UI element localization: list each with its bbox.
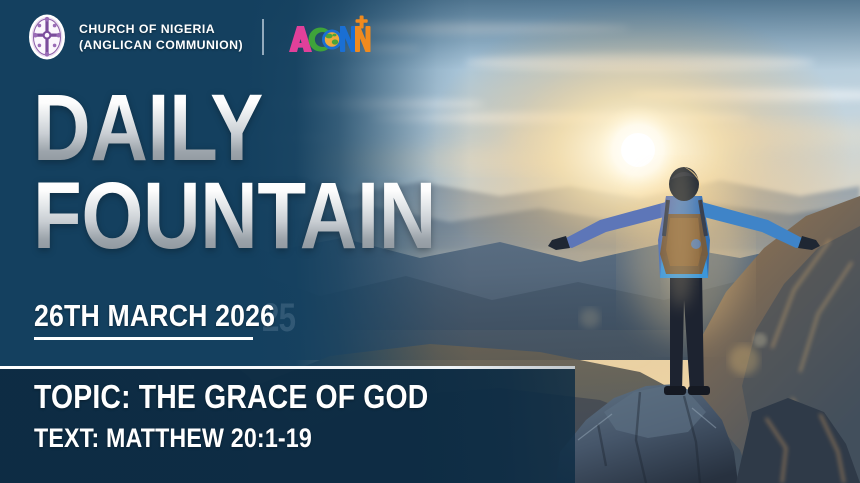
poster-title: DAILY FOUNTAIN [33, 88, 513, 257]
anglican-crest-icon [28, 14, 66, 60]
acnn-logo-icon [285, 14, 373, 60]
text-reference-line: TEXT: MATTHEW 20:1-19 [34, 425, 428, 452]
date-underline [34, 337, 253, 340]
date-block: 26TH MARCH 2026 [34, 300, 314, 340]
brand-header: CHURCH OF NIGERIA (ANGLICAN COMMUNION) [28, 14, 373, 60]
date-value: 26TH MARCH 2026 [34, 300, 275, 331]
title-line-daily: DAILY [33, 88, 436, 170]
title-line-fountain: FOUNTAIN [33, 176, 436, 258]
topic-line: TOPIC: THE GRACE OF GOD [34, 380, 428, 413]
topic-banner-text: TOPIC: THE GRACE OF GOD TEXT: MATTHEW 20… [34, 380, 493, 452]
vertical-divider-icon [262, 19, 264, 55]
org-line-1: CHURCH OF NIGERIA [79, 21, 243, 37]
org-line-2: (ANGLICAN COMMUNION) [79, 37, 243, 53]
banner-top-rule [0, 366, 575, 369]
daily-fountain-poster: 25 CHURCH OF NI [0, 0, 860, 483]
organisation-name: CHURCH OF NIGERIA (ANGLICAN COMMUNION) [79, 21, 243, 53]
